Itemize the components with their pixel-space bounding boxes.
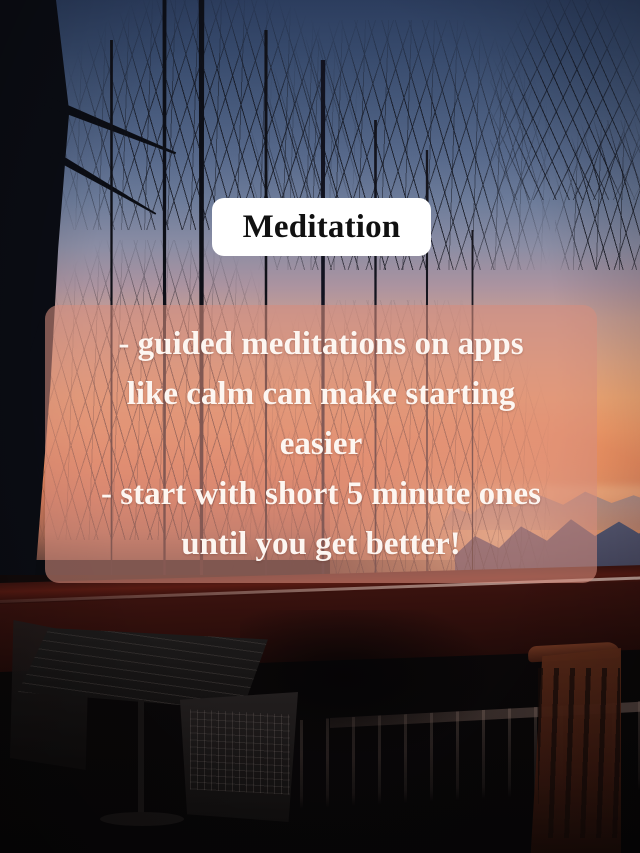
body-line-2: like calm can make starting	[127, 369, 516, 419]
body-text-card: - guided meditations on apps like calm c…	[45, 305, 597, 583]
body-line-4: - start with short 5 minute ones	[101, 469, 541, 519]
body-line-1: - guided meditations on apps	[118, 319, 523, 369]
body-line-5: until you get better!	[181, 519, 461, 569]
page-title: Meditation	[243, 211, 401, 244]
body-line-3: easier	[280, 419, 362, 469]
screenshot-stage: Meditation - guided meditations on apps …	[0, 0, 640, 853]
title-card: Meditation	[212, 198, 431, 256]
